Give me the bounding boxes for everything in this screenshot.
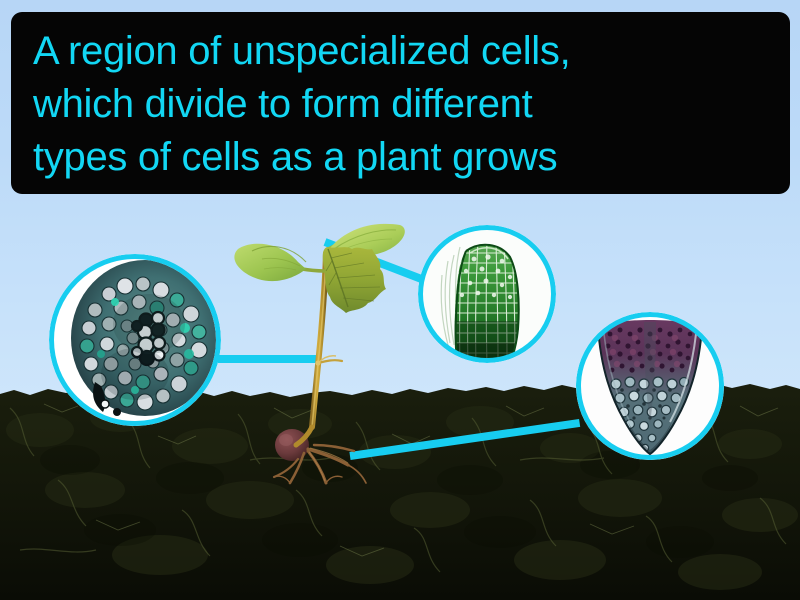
root-tip-micrograph (576, 312, 724, 460)
definition-banner: A region of unspecialized cells, which d… (11, 12, 790, 194)
callout-stem-cross-section[interactable]: stem vascular cross-section (49, 254, 221, 426)
definition-line-3: types of cells as a plant grows (33, 131, 772, 184)
definition-line-2: which divide to form different (33, 78, 772, 131)
stem-cross-section-micrograph (49, 254, 221, 426)
shoot-apical-meristem-micrograph (418, 225, 556, 363)
definition-line-1: A region of unspecialized cells, (33, 25, 772, 78)
seedling-graphic (230, 215, 420, 485)
infographic-canvas: stem vascular cross-section (0, 0, 800, 600)
plant-seedling (230, 215, 420, 485)
callout-shoot-apical-meristem[interactable]: shoot apical meristem (418, 225, 556, 363)
callout-root-apical-meristem[interactable]: root tip meristem (576, 312, 724, 460)
